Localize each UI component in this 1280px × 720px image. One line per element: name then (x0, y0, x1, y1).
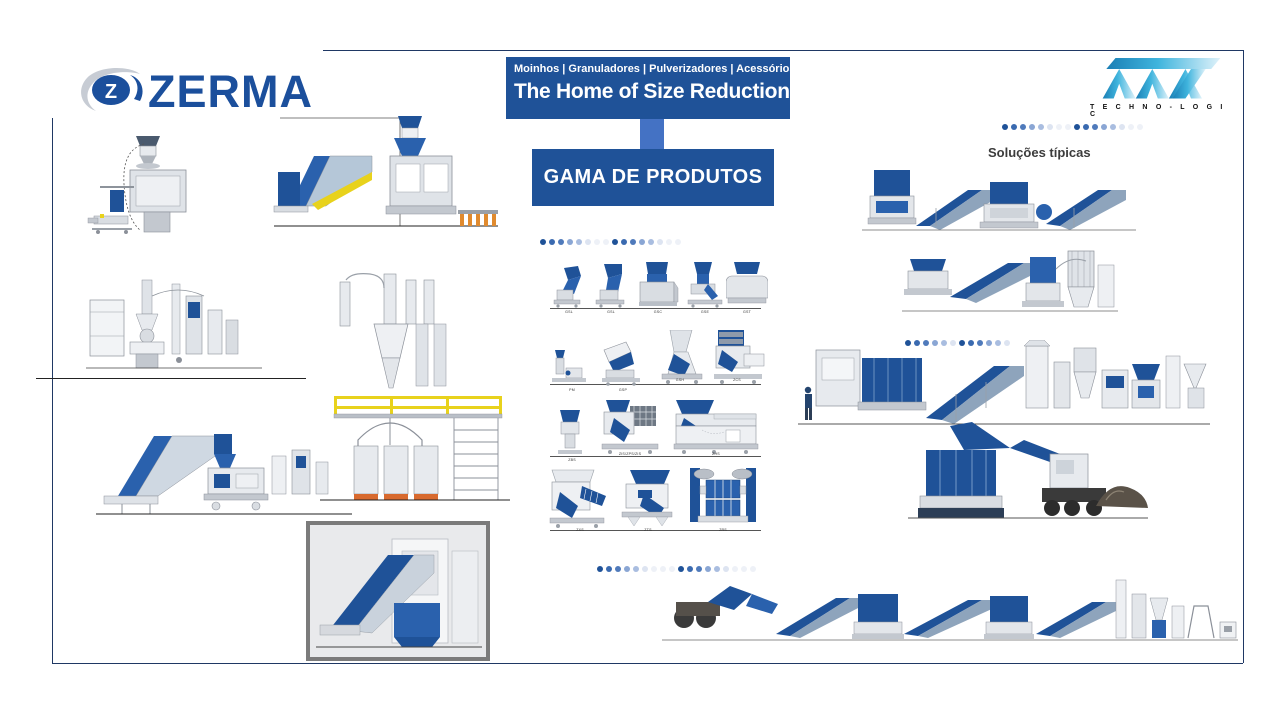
product-label: GSE (701, 310, 709, 314)
separator-dot (675, 239, 681, 245)
illustration-process-line-bottom (660, 576, 1238, 656)
separator-dot (1101, 124, 1107, 130)
two-stage-shredder-line-icon (858, 168, 1138, 238)
product-label: ZBS (568, 458, 576, 462)
separator-dot (1119, 124, 1125, 130)
product-label: PM (569, 388, 575, 392)
solutions-title: Soluções típicas (988, 145, 1091, 160)
granulator-gsc-icon (634, 262, 682, 308)
product-cell[interactable]: ZCS (708, 330, 766, 396)
product-cell[interactable]: ZRS (684, 468, 762, 542)
separator-dot (1047, 124, 1053, 130)
product-label: ZTS (644, 528, 651, 532)
product-row: PM GSP G (548, 330, 763, 398)
shredder-zxs-icon (548, 468, 612, 530)
slide-border-bottom (52, 663, 1243, 664)
complete-process-line-icon (660, 576, 1238, 656)
banner-connector (640, 119, 664, 149)
separator-dot (1065, 124, 1071, 130)
separator-dot (639, 239, 645, 245)
granulator-conveyor-line-icon (96, 410, 356, 520)
product-label: ZRS (719, 528, 727, 532)
separator-dot (666, 239, 672, 245)
shredder-zhs-icon (668, 400, 764, 458)
product-label: ZIS/ZPS/ZIS (619, 452, 641, 456)
product-cell[interactable]: GSE (684, 262, 726, 320)
separator-dot (678, 566, 684, 572)
separator-dot (669, 566, 675, 572)
separator-dot (657, 239, 663, 245)
products-banner-label: GAMA DE PRODUTOS (544, 166, 763, 189)
product-cell[interactable]: GSC (634, 262, 682, 320)
product-cell[interactable]: GSP (598, 340, 648, 396)
illustration-granulator-line (96, 410, 356, 520)
product-label: ZXS (576, 528, 584, 532)
separator-dot (621, 239, 627, 245)
separator-dot (1011, 124, 1017, 130)
svg-text:Z: Z (105, 81, 117, 103)
granulator-gsl-2-icon (590, 262, 632, 308)
product-grid: GSL GSL (548, 262, 763, 542)
aat-logo: T E C H N O - L O G I C (1076, 58, 1236, 120)
shredder-zrs-icon (684, 468, 762, 530)
presentation-slide: Z ZERMA T E C H N O - L O G I C Moinhos … (0, 0, 1280, 720)
header-banner-title: The Home of Size Reduction (514, 80, 782, 104)
separator-dot (1128, 124, 1134, 130)
separator-dot (624, 566, 630, 572)
separator-dot (648, 239, 654, 245)
product-label: GSC (654, 310, 662, 314)
illustration-two-stage-shredding (858, 168, 1138, 238)
separator-dot (606, 566, 612, 572)
zerma-z-swoosh-icon: Z (78, 68, 144, 114)
dots-center-top (540, 239, 681, 245)
product-cell[interactable]: ZBS (552, 410, 592, 466)
product-label: GSH (676, 378, 684, 382)
separator-dot (594, 239, 600, 245)
product-cell[interactable]: GSH (652, 330, 708, 396)
shredder-zts-icon (618, 468, 678, 530)
separator-dot (1056, 124, 1062, 130)
pulverizer-plant-icon (86, 276, 266, 396)
excavator-feeding-shredder-icon (900, 420, 1150, 550)
separator-dot (1110, 124, 1116, 130)
separator-dot (651, 566, 657, 572)
product-cell[interactable]: ZHS (668, 400, 764, 466)
separator-dot (1002, 124, 1008, 130)
separator-dot (630, 239, 636, 245)
separator-dot (642, 566, 648, 572)
separator-dot (1083, 124, 1089, 130)
separator-dot (549, 239, 555, 245)
separator-dot (1137, 124, 1143, 130)
separator-dot (1092, 124, 1098, 130)
separator-dot (615, 566, 621, 572)
products-banner: GAMA DE PRODUTOS (532, 149, 774, 206)
granulator-gse-icon (684, 262, 726, 308)
separator-dot (540, 239, 546, 245)
product-label: ZCS (733, 378, 741, 382)
product-cell[interactable]: ZTS (618, 468, 678, 542)
separator-dot (732, 566, 738, 572)
separator-dot (660, 566, 666, 572)
pulverizer-pm-icon (550, 350, 594, 386)
aat-triangle-icon (1076, 58, 1236, 104)
separator-dot (576, 239, 582, 245)
aat-tagline: T E C H N O - L O G I C (1090, 104, 1236, 118)
separator-dot (612, 239, 618, 245)
separator-dot (705, 566, 711, 572)
shredder-conveyor-photo-icon (306, 521, 490, 661)
granulator-gsp-icon (598, 340, 648, 386)
product-label: GST (743, 310, 751, 314)
illustration-pulverizing-plant (86, 276, 266, 396)
illustration-dosing-unit (86, 130, 196, 245)
separator-dot (585, 239, 591, 245)
product-label: GSP (619, 388, 627, 392)
granulator-gst-icon (726, 262, 768, 308)
shredder-zis-zps-icon (596, 400, 664, 458)
separator-dot (597, 566, 603, 572)
washing-separation-plant-icon (900, 245, 1120, 335)
product-cell[interactable]: GSL (548, 262, 590, 320)
product-cell[interactable]: ZIS/ZPS/ZIS (596, 400, 664, 466)
illustration-washing-plant (900, 245, 1120, 335)
product-cell[interactable]: GSL (590, 262, 632, 320)
product-row: ZXS ZTS (548, 468, 763, 542)
illustration-big-shredder-photo (306, 521, 490, 661)
granulator-gsl-icon (548, 262, 590, 308)
separator-dot (741, 566, 747, 572)
separator-dot (1074, 124, 1080, 130)
product-label: GSL (607, 310, 615, 314)
illustration-excavator-shredder (900, 420, 1150, 550)
dosing-hopper-conveyor-icon (86, 130, 196, 245)
separator-dot (1038, 124, 1044, 130)
separator-dot (687, 566, 693, 572)
product-row: GSL GSL (548, 262, 763, 324)
slide-border-left (52, 118, 53, 663)
inclined-conveyor-hopper-icon (272, 110, 502, 240)
product-cell[interactable]: PM (550, 350, 594, 396)
separator-dot (750, 566, 756, 572)
separator-dot (567, 239, 573, 245)
shredder-zbs-icon (552, 410, 592, 458)
separator-dot (1029, 124, 1035, 130)
separator-dot (603, 239, 609, 245)
separator-dot (714, 566, 720, 572)
product-label: ZHS (712, 452, 720, 456)
dots-center-bottom (597, 566, 756, 572)
product-cell[interactable]: ZXS (548, 468, 612, 542)
illustration-conveyor-feeder (272, 110, 502, 240)
slide-border-top (323, 50, 1243, 51)
separator-dot (723, 566, 729, 572)
separator-dot (1020, 124, 1026, 130)
separator-dot (558, 239, 564, 245)
product-cell[interactable]: GST (726, 262, 768, 320)
header-banner-subtitle: Moinhos | Granuladores | Pulverizadores … (514, 63, 782, 75)
product-label: GSL (565, 310, 573, 314)
dots-right-top (1002, 124, 1143, 130)
header-banner: Moinhos | Granuladores | Pulverizadores … (506, 57, 790, 119)
product-row: ZBS ZIS/ZPS/ZIS (548, 400, 763, 466)
slide-border-right (1243, 50, 1244, 663)
separator-dot (696, 566, 702, 572)
separator-dot (633, 566, 639, 572)
